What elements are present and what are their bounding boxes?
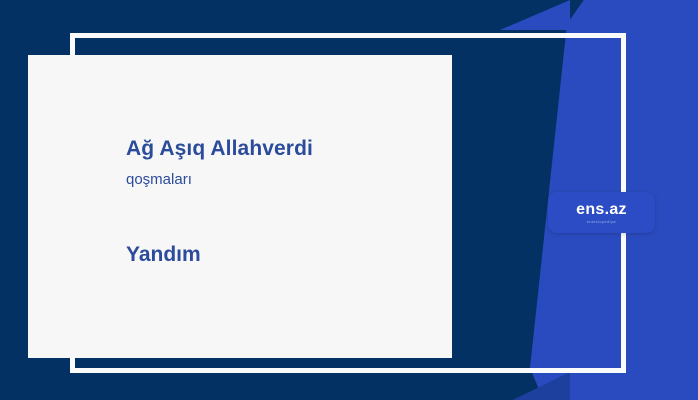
panel-text-block: Ağ Aşıq Allahverdi qoşmaları Yandım [126, 137, 436, 267]
poem-title: Yandım [126, 242, 436, 267]
ensaz-logo-badge[interactable]: ens.az ensiklopediya [548, 192, 655, 233]
ensaz-tagline: ensiklopediya [587, 220, 616, 224]
content-panel: Ağ Aşıq Allahverdi qoşmaları Yandım [28, 55, 452, 358]
work-genre-subtitle: qoşmaları [126, 171, 436, 189]
accent-wedge-top-decoration [500, 0, 570, 30]
poem-cover-card: Ağ Aşıq Allahverdi qoşmaları Yandım ens.… [0, 0, 698, 400]
ensaz-wordmark: ens.az [576, 202, 627, 218]
work-author-title: Ağ Aşıq Allahverdi [126, 137, 436, 162]
